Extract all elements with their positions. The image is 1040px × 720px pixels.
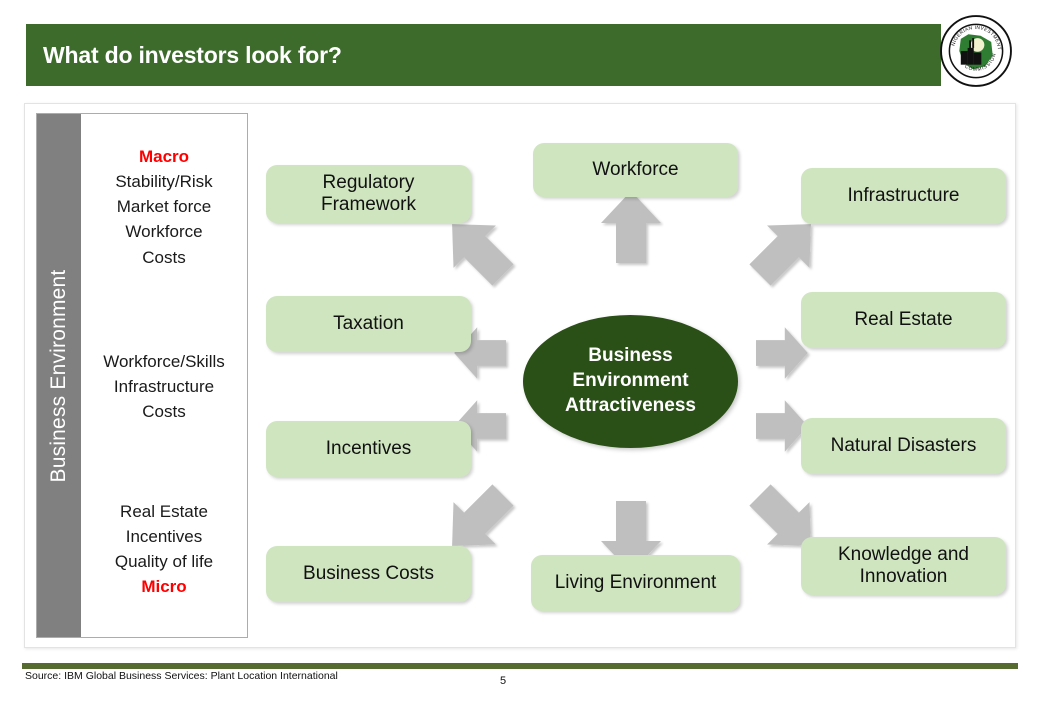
node-label: Workforce: [592, 159, 678, 181]
factor-item: Workforce/Skills: [81, 349, 247, 374]
factor-item: Market force: [81, 194, 247, 219]
factor-item: Incentives: [81, 524, 247, 549]
node-label: Real Estate: [854, 309, 952, 331]
factor-item: Costs: [81, 245, 247, 270]
page-number: 5: [500, 675, 506, 687]
node-taxation[interactable]: Taxation: [266, 296, 471, 352]
center-node-label: Business Environment Attractiveness: [565, 344, 696, 418]
business-environment-diagram: RegulatoryFramework Workforce Infrastruc…: [248, 103, 1016, 648]
factor-item: Quality of life: [81, 549, 247, 574]
factor-group-mid: Workforce/Skills Infrastructure Costs: [81, 349, 247, 424]
factor-item: Real Estate: [81, 499, 247, 524]
node-label: RegulatoryFramework: [321, 172, 416, 217]
factor-list: Macro Stability/Risk Market force Workfo…: [81, 114, 247, 637]
factor-item: Stability/Risk: [81, 169, 247, 194]
node-regulatory-framework[interactable]: RegulatoryFramework: [266, 165, 471, 223]
nipc-seal-logo: NIGERIAN INVESTMENT PROMOTION COMMISSION: [938, 13, 1014, 89]
node-label: Infrastructure: [848, 185, 960, 207]
node-incentives[interactable]: Incentives: [266, 421, 471, 477]
factor-group-micro: Real Estate Incentives Quality of life M…: [81, 499, 247, 600]
center-line-1: Business: [588, 345, 672, 366]
center-line-2: Environment: [572, 370, 688, 391]
node-label: Natural Disasters: [831, 435, 977, 457]
factor-group-macro: Macro Stability/Risk Market force Workfo…: [81, 144, 247, 270]
center-line-3: Attractiveness: [565, 395, 696, 416]
node-workforce[interactable]: Workforce: [533, 143, 738, 197]
node-natural-disasters[interactable]: Natural Disasters: [801, 418, 1006, 474]
node-knowledge-and-innovation[interactable]: Knowledge andInnovation: [801, 537, 1006, 595]
node-living-environment[interactable]: Living Environment: [531, 555, 740, 611]
node-infrastructure[interactable]: Infrastructure: [801, 168, 1006, 224]
node-center-business-environment-attractiveness[interactable]: Business Environment Attractiveness: [523, 315, 738, 448]
node-label: Business Costs: [303, 563, 434, 585]
node-label: Taxation: [333, 313, 404, 335]
arrow-up: [601, 191, 661, 263]
factor-item: Micro: [81, 574, 247, 599]
page-title: What do investors look for?: [43, 42, 342, 69]
factor-item: Costs: [81, 399, 247, 424]
slide-title-bar: What do investors look for?: [26, 24, 941, 86]
business-environment-panel: Business Environment Macro Stability/Ris…: [36, 113, 248, 638]
sidebar-vertical-label: Business Environment: [47, 269, 71, 482]
node-label: Living Environment: [555, 572, 717, 594]
factor-item: Infrastructure: [81, 374, 247, 399]
sidebar-gray-bar: Business Environment: [37, 114, 81, 637]
factor-item: Macro: [81, 144, 247, 169]
footer-rule: [22, 663, 1018, 669]
node-label: Knowledge andInnovation: [838, 544, 969, 589]
node-label: Incentives: [326, 438, 412, 460]
node-business-costs[interactable]: Business Costs: [266, 546, 471, 602]
factor-item: Workforce: [81, 219, 247, 244]
source-citation: Source: IBM Global Business Services: Pl…: [25, 670, 338, 682]
node-real-estate[interactable]: Real Estate: [801, 292, 1006, 348]
